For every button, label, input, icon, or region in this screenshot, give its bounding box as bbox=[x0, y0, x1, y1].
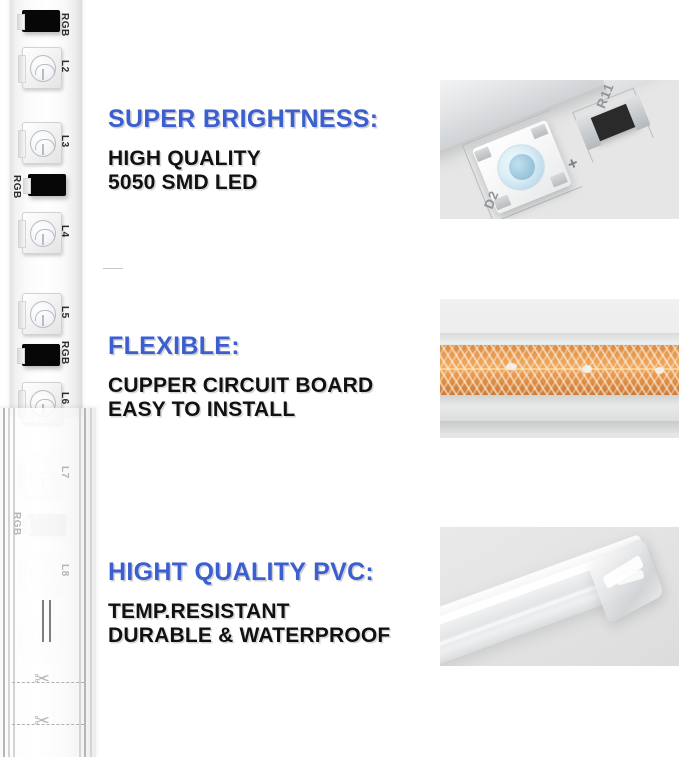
feature-body-line: TEMP.RESISTANT bbox=[108, 600, 390, 624]
smd-led-closeup-photo: R11 + D2 bbox=[440, 80, 679, 219]
feature-heading: FLEXIBLE: bbox=[108, 332, 373, 361]
led-solder-tab bbox=[550, 172, 568, 188]
feature-heading: SUPER BRIGHTNESS: bbox=[108, 105, 378, 134]
braid-highlight bbox=[582, 365, 592, 373]
led-label-l6: L6 bbox=[59, 392, 70, 405]
feature-block-pvc: HIGHT QUALITY PVC: TEMP.RESISTANT DURABL… bbox=[108, 558, 390, 649]
feature-body-line: HIGH QUALITY bbox=[108, 147, 378, 171]
feature-body: HIGH QUALITY 5050 SMD LED bbox=[108, 147, 378, 196]
led-dome-icon bbox=[30, 220, 56, 247]
resistor-label-rgb: RGB bbox=[11, 512, 22, 536]
feature-body-line: CUPPER CIRCUIT BOARD bbox=[108, 374, 373, 398]
sleeve-edge-line bbox=[3, 408, 5, 757]
sleeve-edge-line bbox=[90, 408, 92, 757]
resistor-component bbox=[22, 344, 60, 366]
sleeve-edge-line bbox=[84, 408, 86, 757]
feature-block-brightness: SUPER BRIGHTNESS: HIGH QUALITY 5050 SMD … bbox=[108, 105, 378, 196]
led-phosphor-dome bbox=[490, 137, 552, 198]
led-component-l3 bbox=[22, 122, 62, 164]
copper-braid-weave bbox=[440, 345, 679, 397]
pcb-macro-scene: R11 + D2 bbox=[440, 80, 679, 219]
sleeve-edge-line bbox=[8, 408, 10, 757]
led-strip-illustration: RGB L2 L3 RGB L4 L5 RGB L6 bbox=[0, 0, 100, 757]
resistor-label-rgb: RGB bbox=[11, 175, 22, 199]
feature-block-flexible: FLEXIBLE: CUPPER CIRCUIT BOARD EASY TO I… bbox=[108, 332, 373, 423]
led-label-l8: L8 bbox=[59, 564, 70, 577]
feature-heading: HIGHT QUALITY PVC: bbox=[108, 558, 390, 587]
copper-braid-scene bbox=[440, 299, 679, 438]
braid-highlight bbox=[506, 363, 517, 370]
feature-body: CUPPER CIRCUIT BOARD EASY TO INSTALL bbox=[108, 374, 373, 423]
led-component-l2 bbox=[22, 47, 62, 89]
led-solder-tab bbox=[474, 146, 492, 162]
led-component-l4 bbox=[22, 212, 62, 254]
led-component-l5 bbox=[22, 293, 62, 335]
led-dome-icon bbox=[30, 301, 56, 328]
feature-body-line: 5050 SMD LED bbox=[108, 171, 378, 195]
cut-marker: ✂ bbox=[12, 672, 84, 694]
solder-pad-wires bbox=[40, 600, 56, 642]
led-dome-icon bbox=[30, 130, 56, 157]
led-label-l2: L2 bbox=[59, 60, 70, 73]
led-label-l5: L5 bbox=[59, 306, 70, 319]
led-dome-icon bbox=[30, 55, 56, 82]
sleeve-edge-line bbox=[13, 408, 15, 757]
resistor-component bbox=[28, 174, 66, 196]
braid-highlight bbox=[655, 367, 664, 374]
led-label-l7: L7 bbox=[59, 466, 70, 479]
scissors-icon: ✂ bbox=[34, 669, 50, 691]
scissors-icon: ✂ bbox=[34, 711, 50, 733]
led-label-l4: L4 bbox=[59, 225, 70, 238]
pvc-sleeve-end-photo bbox=[440, 527, 679, 666]
led-label-l3: L3 bbox=[59, 135, 70, 148]
resistor-component bbox=[22, 10, 60, 32]
infographic-page: RGB L2 L3 RGB L4 L5 RGB L6 bbox=[0, 0, 679, 757]
section-divider bbox=[103, 268, 123, 269]
copper-circuit-board-photo bbox=[440, 299, 679, 438]
sleeve-edge-line bbox=[79, 408, 81, 757]
resistor-label-rgb: RGB bbox=[59, 13, 70, 37]
feature-body-line: DURABLE & WATERPROOF bbox=[108, 624, 390, 648]
pvc-sleeve-scene bbox=[440, 527, 679, 666]
sleeve-lower-wall bbox=[440, 395, 679, 427]
cut-marker: ✂ bbox=[12, 714, 84, 736]
feature-body-line: EASY TO INSTALL bbox=[108, 398, 373, 422]
led-solder-tab bbox=[530, 123, 548, 139]
feature-body: TEMP.RESISTANT DURABLE & WATERPROOF bbox=[108, 600, 390, 649]
resistor-label-rgb: RGB bbox=[59, 341, 70, 365]
